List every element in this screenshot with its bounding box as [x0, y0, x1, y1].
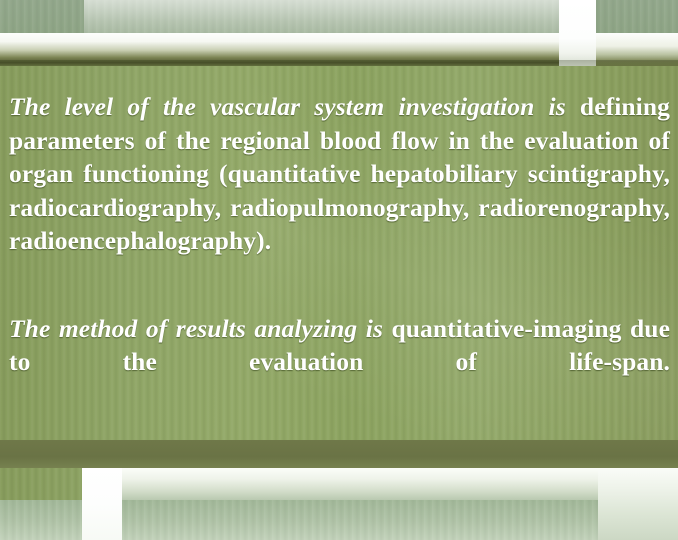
- top-decoration-band: [0, 0, 678, 66]
- paragraph-1: The level of the vascular system investi…: [9, 90, 670, 292]
- bottom-right-light-panel: [598, 468, 678, 540]
- bottom-dark-stripe: [0, 440, 678, 468]
- bottom-horizontal-stripe-highlight: [122, 468, 598, 500]
- paragraph-2: The method of results analyzing is quant…: [9, 312, 670, 413]
- slide-body-text: The level of the vascular system investi…: [9, 90, 670, 412]
- paragraph-1-italic-lead: The level of the vascular system investi…: [9, 92, 580, 121]
- bottom-white-vertical-bar: [82, 468, 122, 540]
- top-band-shadow: [0, 60, 678, 66]
- bottom-decoration-band: [0, 440, 678, 540]
- slide-canvas: The level of the vascular system investi…: [0, 0, 678, 540]
- top-white-vertical-bar: [559, 0, 596, 66]
- paragraph-2-italic-lead: The method of results analyzing is: [9, 314, 391, 343]
